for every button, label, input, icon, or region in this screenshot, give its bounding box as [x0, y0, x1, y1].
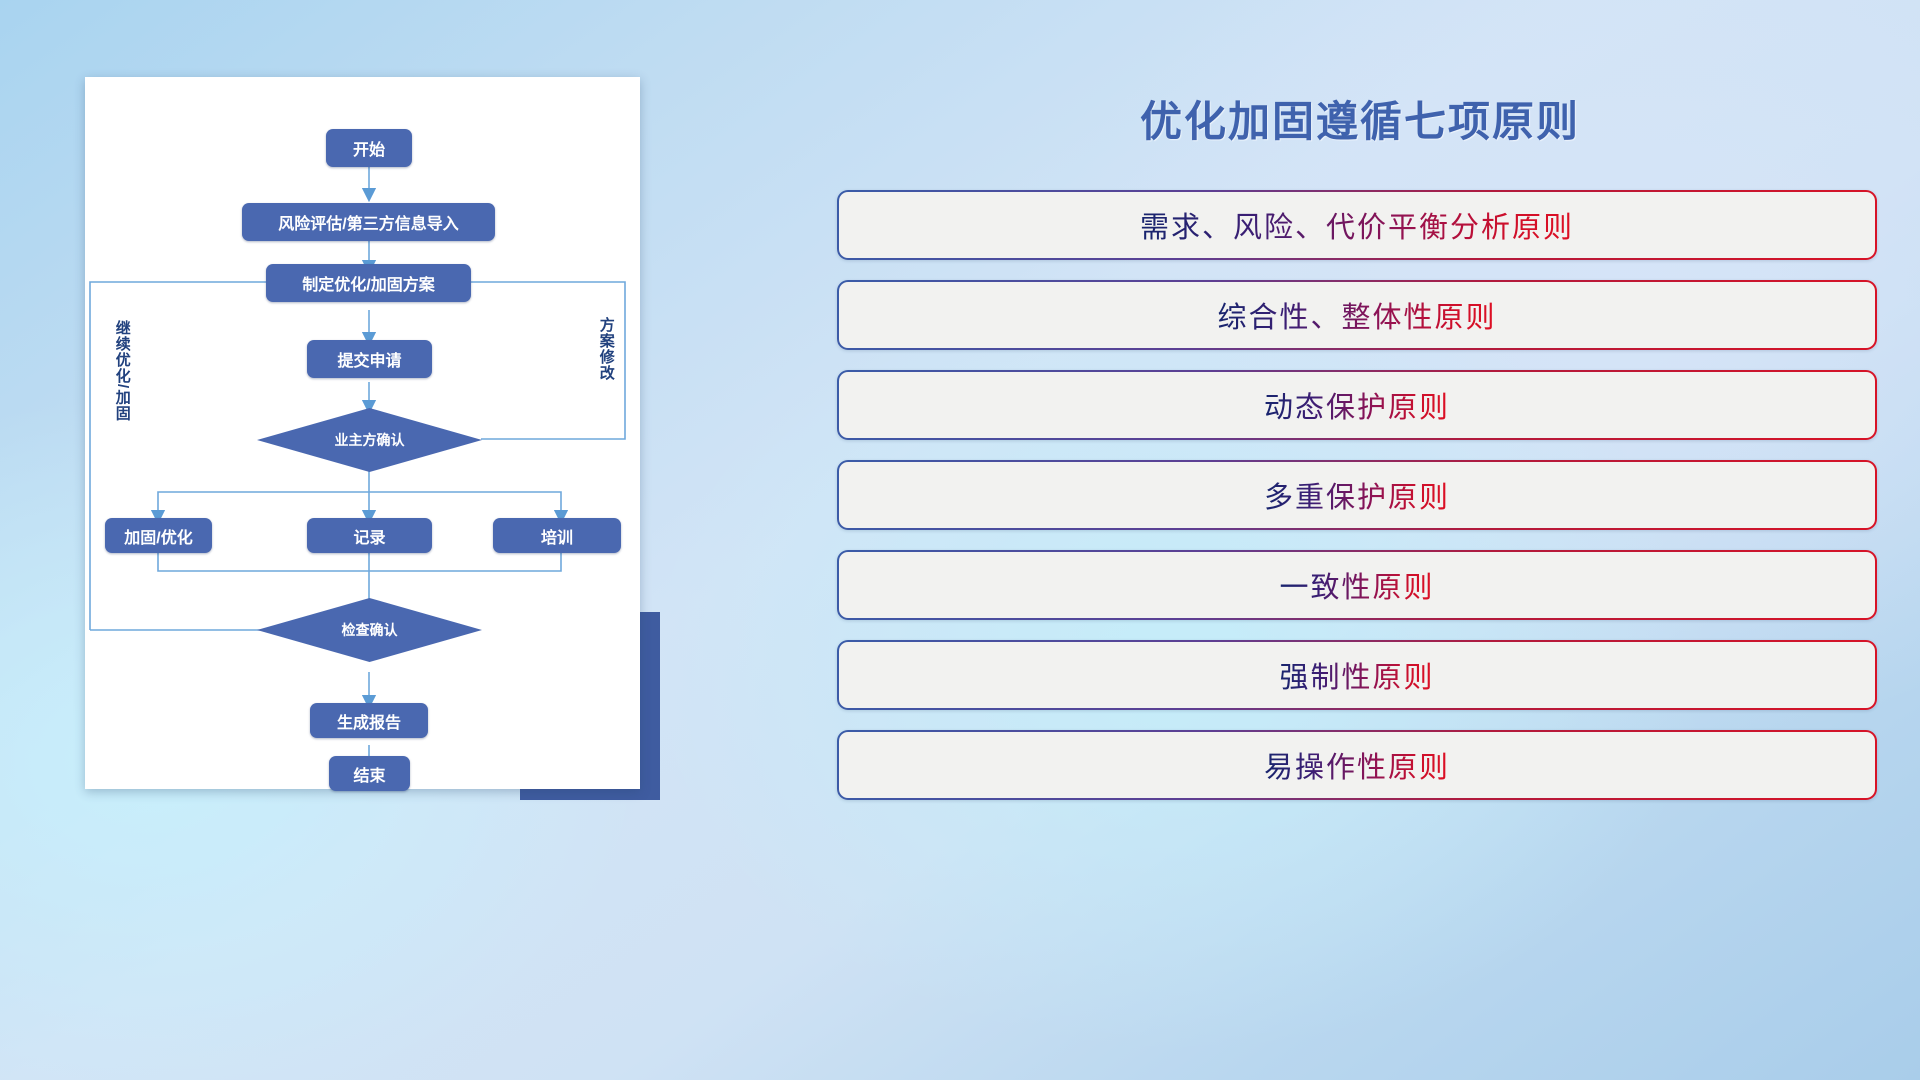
flow-node-plan-label: 制定优化/加固方案 — [302, 271, 434, 295]
edge-label-continue-optimize: 继续优化/加固 — [114, 320, 130, 440]
flow-node-check-confirm[interactable]: 检查确认 — [257, 598, 482, 662]
flow-node-check-confirm-label: 检查确认 — [342, 620, 398, 640]
principles-list: 需求、风险、代价平衡分析原则 综合性、整体性原则 动态保护原则 多重保护原则 一… — [837, 190, 1877, 820]
flow-node-owner-confirm-label: 业主方确认 — [335, 430, 405, 450]
principle-item-2-inner: 综合性、整体性原则 — [839, 282, 1875, 348]
flow-node-record[interactable]: 记录 — [307, 518, 432, 553]
principles-title: 优化加固遵循七项原则 — [800, 88, 1920, 149]
flowchart-diagram: 开始 风险评估/第三方信息导入 制定优化/加固方案 提交申请 业主方确认 加固/… — [85, 77, 640, 789]
principles-panel: 优化加固遵循七项原则 需求、风险、代价平衡分析原则 综合性、整体性原则 动态保护… — [800, 0, 1920, 1080]
flow-node-training[interactable]: 培训 — [493, 518, 621, 553]
flow-node-end[interactable]: 结束 — [329, 756, 410, 791]
flow-node-risk-assessment[interactable]: 风险评估/第三方信息导入 — [242, 203, 495, 241]
flow-node-record-label: 记录 — [353, 524, 385, 548]
flow-node-owner-confirm[interactable]: 业主方确认 — [257, 408, 482, 472]
flowchart-panel: 开始 风险评估/第三方信息导入 制定优化/加固方案 提交申请 业主方确认 加固/… — [0, 0, 800, 1080]
flow-node-reinforce[interactable]: 加固/优化 — [105, 518, 212, 553]
principle-item-2-label: 综合性、整体性原则 — [1217, 294, 1496, 336]
principle-item-4[interactable]: 多重保护原则 — [837, 460, 1877, 530]
principle-item-4-label: 多重保护原则 — [1264, 474, 1450, 516]
flow-node-end-label: 结束 — [353, 762, 385, 786]
principle-item-1-inner: 需求、风险、代价平衡分析原则 — [839, 192, 1875, 258]
flow-node-training-label: 培训 — [541, 524, 573, 548]
principle-item-5[interactable]: 一致性原则 — [837, 550, 1877, 620]
principle-item-7-inner: 易操作性原则 — [839, 732, 1875, 798]
principle-item-1[interactable]: 需求、风险、代价平衡分析原则 — [837, 190, 1877, 260]
principle-item-3-label: 动态保护原则 — [1264, 384, 1450, 426]
principle-item-3-inner: 动态保护原则 — [839, 372, 1875, 438]
principle-item-5-label: 一致性原则 — [1279, 564, 1434, 606]
flow-node-submit-label: 提交申请 — [337, 347, 401, 371]
flow-node-risk-assessment-label: 风险评估/第三方信息导入 — [278, 210, 458, 234]
principle-item-4-inner: 多重保护原则 — [839, 462, 1875, 528]
flow-node-submit[interactable]: 提交申请 — [307, 340, 432, 378]
flow-node-reinforce-label: 加固/优化 — [124, 524, 192, 548]
principle-item-3[interactable]: 动态保护原则 — [837, 370, 1877, 440]
edge-label-plan-revision: 方案修改 — [598, 317, 614, 405]
principle-item-6-label: 强制性原则 — [1279, 654, 1434, 696]
flowchart-card: 开始 风险评估/第三方信息导入 制定优化/加固方案 提交申请 业主方确认 加固/… — [85, 77, 640, 789]
principle-item-7-label: 易操作性原则 — [1264, 744, 1450, 786]
flow-node-report-label: 生成报告 — [337, 709, 401, 733]
principle-item-5-inner: 一致性原则 — [839, 552, 1875, 618]
principle-item-6[interactable]: 强制性原则 — [837, 640, 1877, 710]
flow-node-start-label: 开始 — [353, 136, 385, 160]
flow-node-start[interactable]: 开始 — [326, 129, 412, 167]
flow-node-plan[interactable]: 制定优化/加固方案 — [266, 264, 471, 302]
principle-item-6-inner: 强制性原则 — [839, 642, 1875, 708]
flow-node-report[interactable]: 生成报告 — [310, 703, 428, 738]
principle-item-7[interactable]: 易操作性原则 — [837, 730, 1877, 800]
principle-item-2[interactable]: 综合性、整体性原则 — [837, 280, 1877, 350]
principle-item-1-label: 需求、风险、代价平衡分析原则 — [1140, 204, 1574, 246]
